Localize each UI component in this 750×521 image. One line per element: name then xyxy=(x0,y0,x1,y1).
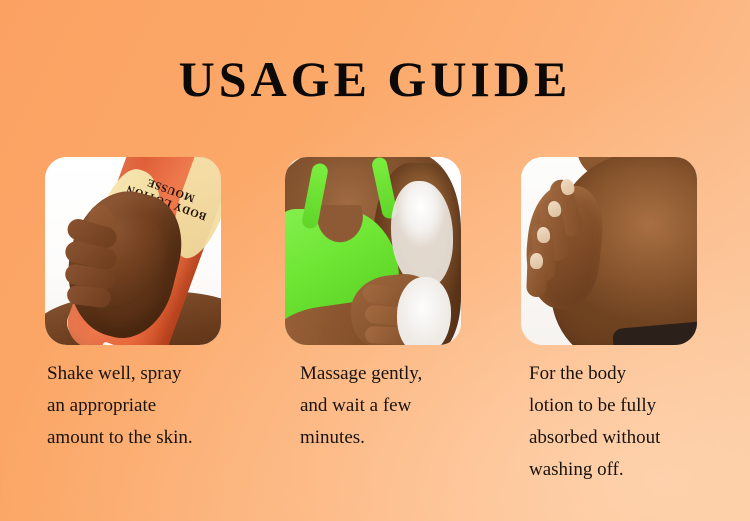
step-2-image-card xyxy=(285,157,461,345)
photo-applying-lotion xyxy=(285,157,461,345)
photo-hand-holding-bottle: BODY LOTION MOUSSE OEM/ODM LOGO xyxy=(45,157,221,345)
step-1-caption: Shake well, spray an appropriate amount … xyxy=(47,358,257,454)
step-image-row: BODY LOTION MOUSSE OEM/ODM LOGO xyxy=(0,157,750,345)
step-3-image-card xyxy=(521,157,697,345)
step-2-caption: Massage gently, and wait a few minutes. xyxy=(300,358,500,454)
lotion-foam-lower xyxy=(397,277,451,345)
photo-absorbed-lotion-shoulder xyxy=(521,157,697,345)
page-title: USAGE GUIDE xyxy=(0,50,750,108)
step-3-caption: For the body lotion to be fully absorbed… xyxy=(529,358,724,486)
step-1-image-card: BODY LOTION MOUSSE OEM/ODM LOGO xyxy=(45,157,221,345)
usage-guide-poster: USAGE GUIDE BODY LOTION MOUSSE OEM/ODM L… xyxy=(0,0,750,521)
fingernail xyxy=(530,253,544,269)
